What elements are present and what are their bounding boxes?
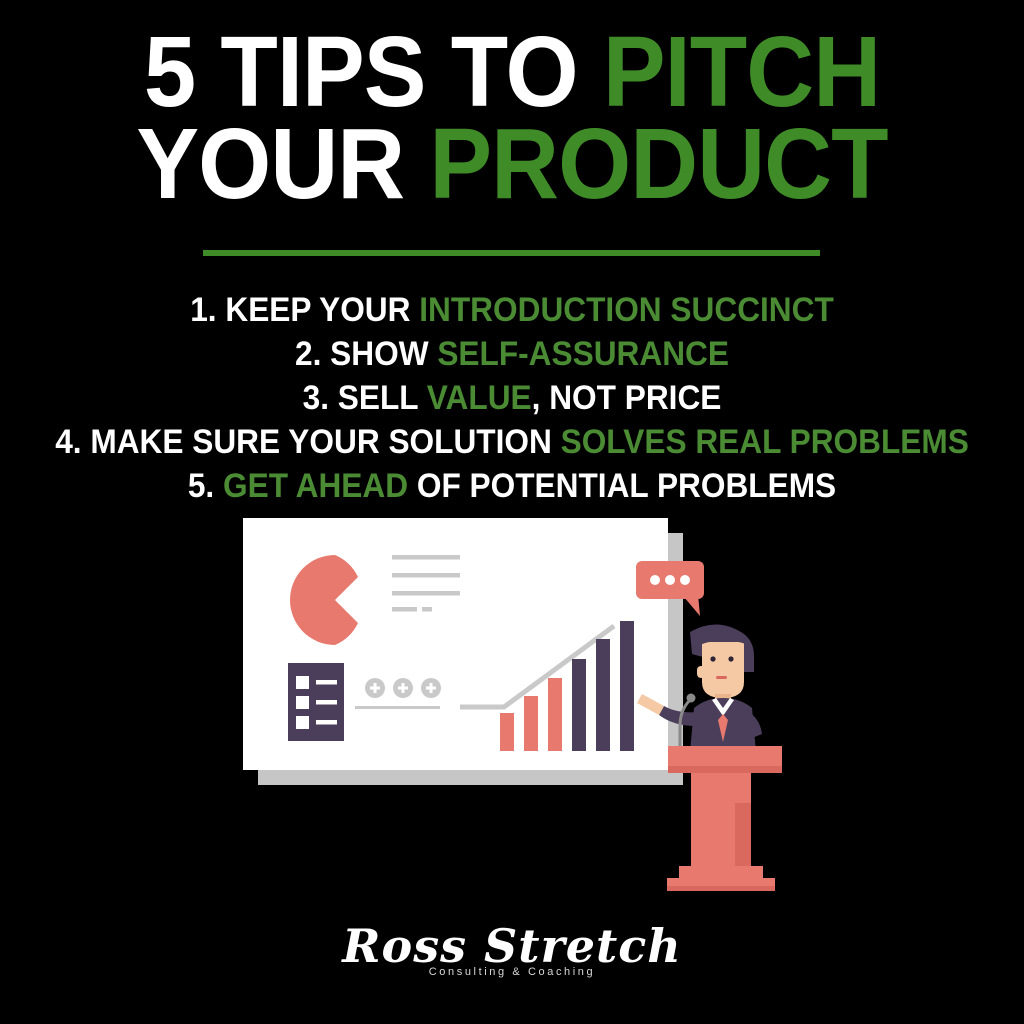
bar (524, 696, 538, 751)
presenter-face (702, 642, 744, 698)
presenter-eye (728, 656, 733, 661)
bar (548, 678, 562, 751)
bar (500, 713, 514, 751)
logo-name: Ross Stretch (0, 920, 1024, 972)
podium (667, 746, 782, 891)
presenter-eye (710, 656, 715, 661)
plus-circle-icons (365, 678, 441, 698)
checklist-icon (288, 663, 344, 741)
business-presentation-illustration (0, 0, 1024, 1024)
bar (596, 639, 610, 751)
bar (572, 659, 586, 751)
brand-logo: Ross Stretch Consulting & Coaching (0, 920, 1024, 978)
baseline-rule (355, 706, 440, 709)
bar (620, 621, 634, 751)
poster-canvas: 5 TIPS TO PITCH YOUR PRODUCT 1. KEEP YOU… (0, 0, 1024, 1024)
logo-tagline: Consulting & Coaching (0, 966, 1024, 978)
